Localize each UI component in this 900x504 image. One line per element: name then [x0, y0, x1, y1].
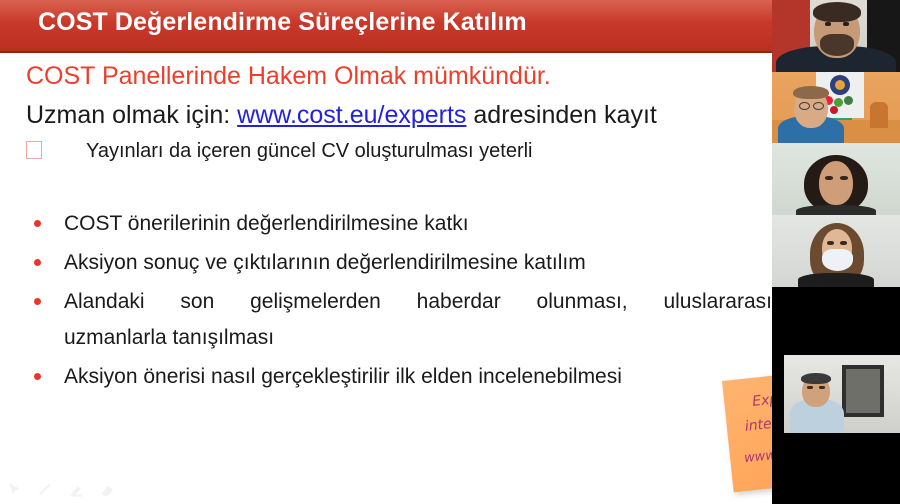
participant-tile-2[interactable]	[772, 72, 900, 143]
bullet-text: Aksiyon önerisi nasıl gerçekleştirilir i…	[64, 365, 622, 388]
slide-bullet-list: COST önerilerinin değerlendirilmesine ka…	[26, 206, 772, 398]
bullet-dot-icon	[34, 373, 41, 380]
slide-title: COST Değerlendirme Süreçlerine Katılım	[38, 8, 527, 37]
cost-experts-link[interactable]: www.cost.eu/experts	[237, 101, 466, 129]
lead-line-2-prefix: Uzman olmak için:	[26, 101, 237, 129]
bullet-text: Aksiyon sonuç ve çıktılarının değerlendi…	[64, 251, 586, 274]
bullet-text-continuation: uzmanlarla tanışılması	[64, 320, 772, 356]
lead-line-2-suffix: adresinden kayıt	[466, 101, 656, 129]
list-item: Alandaki son gelişmelerden haberdar olun…	[26, 284, 772, 356]
participant-tile-4[interactable]	[772, 215, 900, 287]
participant-2-video	[772, 72, 900, 143]
bullet-dot-icon	[34, 220, 41, 227]
participant-4-video	[772, 215, 900, 287]
bullet-dot-icon	[34, 298, 41, 305]
eraser-icon[interactable]	[99, 481, 116, 498]
highlighter-icon[interactable]	[68, 481, 85, 498]
participant-video-rail[interactable]	[772, 0, 900, 504]
participant-3-video	[772, 143, 900, 215]
participant-5-video	[784, 355, 900, 433]
list-item: Aksiyon sonuç ve çıktılarının değerlendi…	[26, 245, 772, 281]
slide-lead-line-1: COST Panellerinde Hakem Olmak mümkündür.	[26, 62, 551, 91]
sub-bullet-text: Yayınları da içeren güncel CV oluşturulm…	[86, 140, 533, 162]
bullet-text: COST önerilerinin değerlendirilmesine ka…	[64, 212, 469, 235]
meeting-screenshare-view: COST Değerlendirme Süreçlerine Katılım C…	[0, 0, 900, 504]
bullet-dot-icon	[34, 259, 41, 266]
empty-box-glyph-icon	[26, 141, 42, 159]
list-item: COST önerilerinin değerlendirilmesine ka…	[26, 206, 772, 242]
presentation-slide: COST Değerlendirme Süreçlerine Katılım C…	[0, 0, 900, 504]
pointer-icon[interactable]	[6, 481, 23, 498]
participant-tile-1[interactable]	[772, 0, 900, 72]
slide-sub-bullet: Yayınları da içeren güncel CV oluşturulm…	[26, 140, 533, 163]
slide-lead-line-2: Uzman olmak için: www.cost.eu/experts ad…	[26, 101, 657, 130]
list-item: Aksiyon önerisi nasıl gerçekleştirilir i…	[26, 359, 772, 395]
participant-tile-3[interactable]	[772, 143, 900, 215]
slide-title-band: COST Değerlendirme Süreçlerine Katılım	[0, 0, 900, 53]
participant-tile-5[interactable]	[772, 287, 900, 504]
pen-icon[interactable]	[37, 481, 54, 498]
participant-1-video	[772, 0, 900, 72]
bullet-text: Alandaki son gelişmelerden haberdar olun…	[64, 284, 772, 320]
annotation-toolbar[interactable]	[6, 481, 116, 498]
